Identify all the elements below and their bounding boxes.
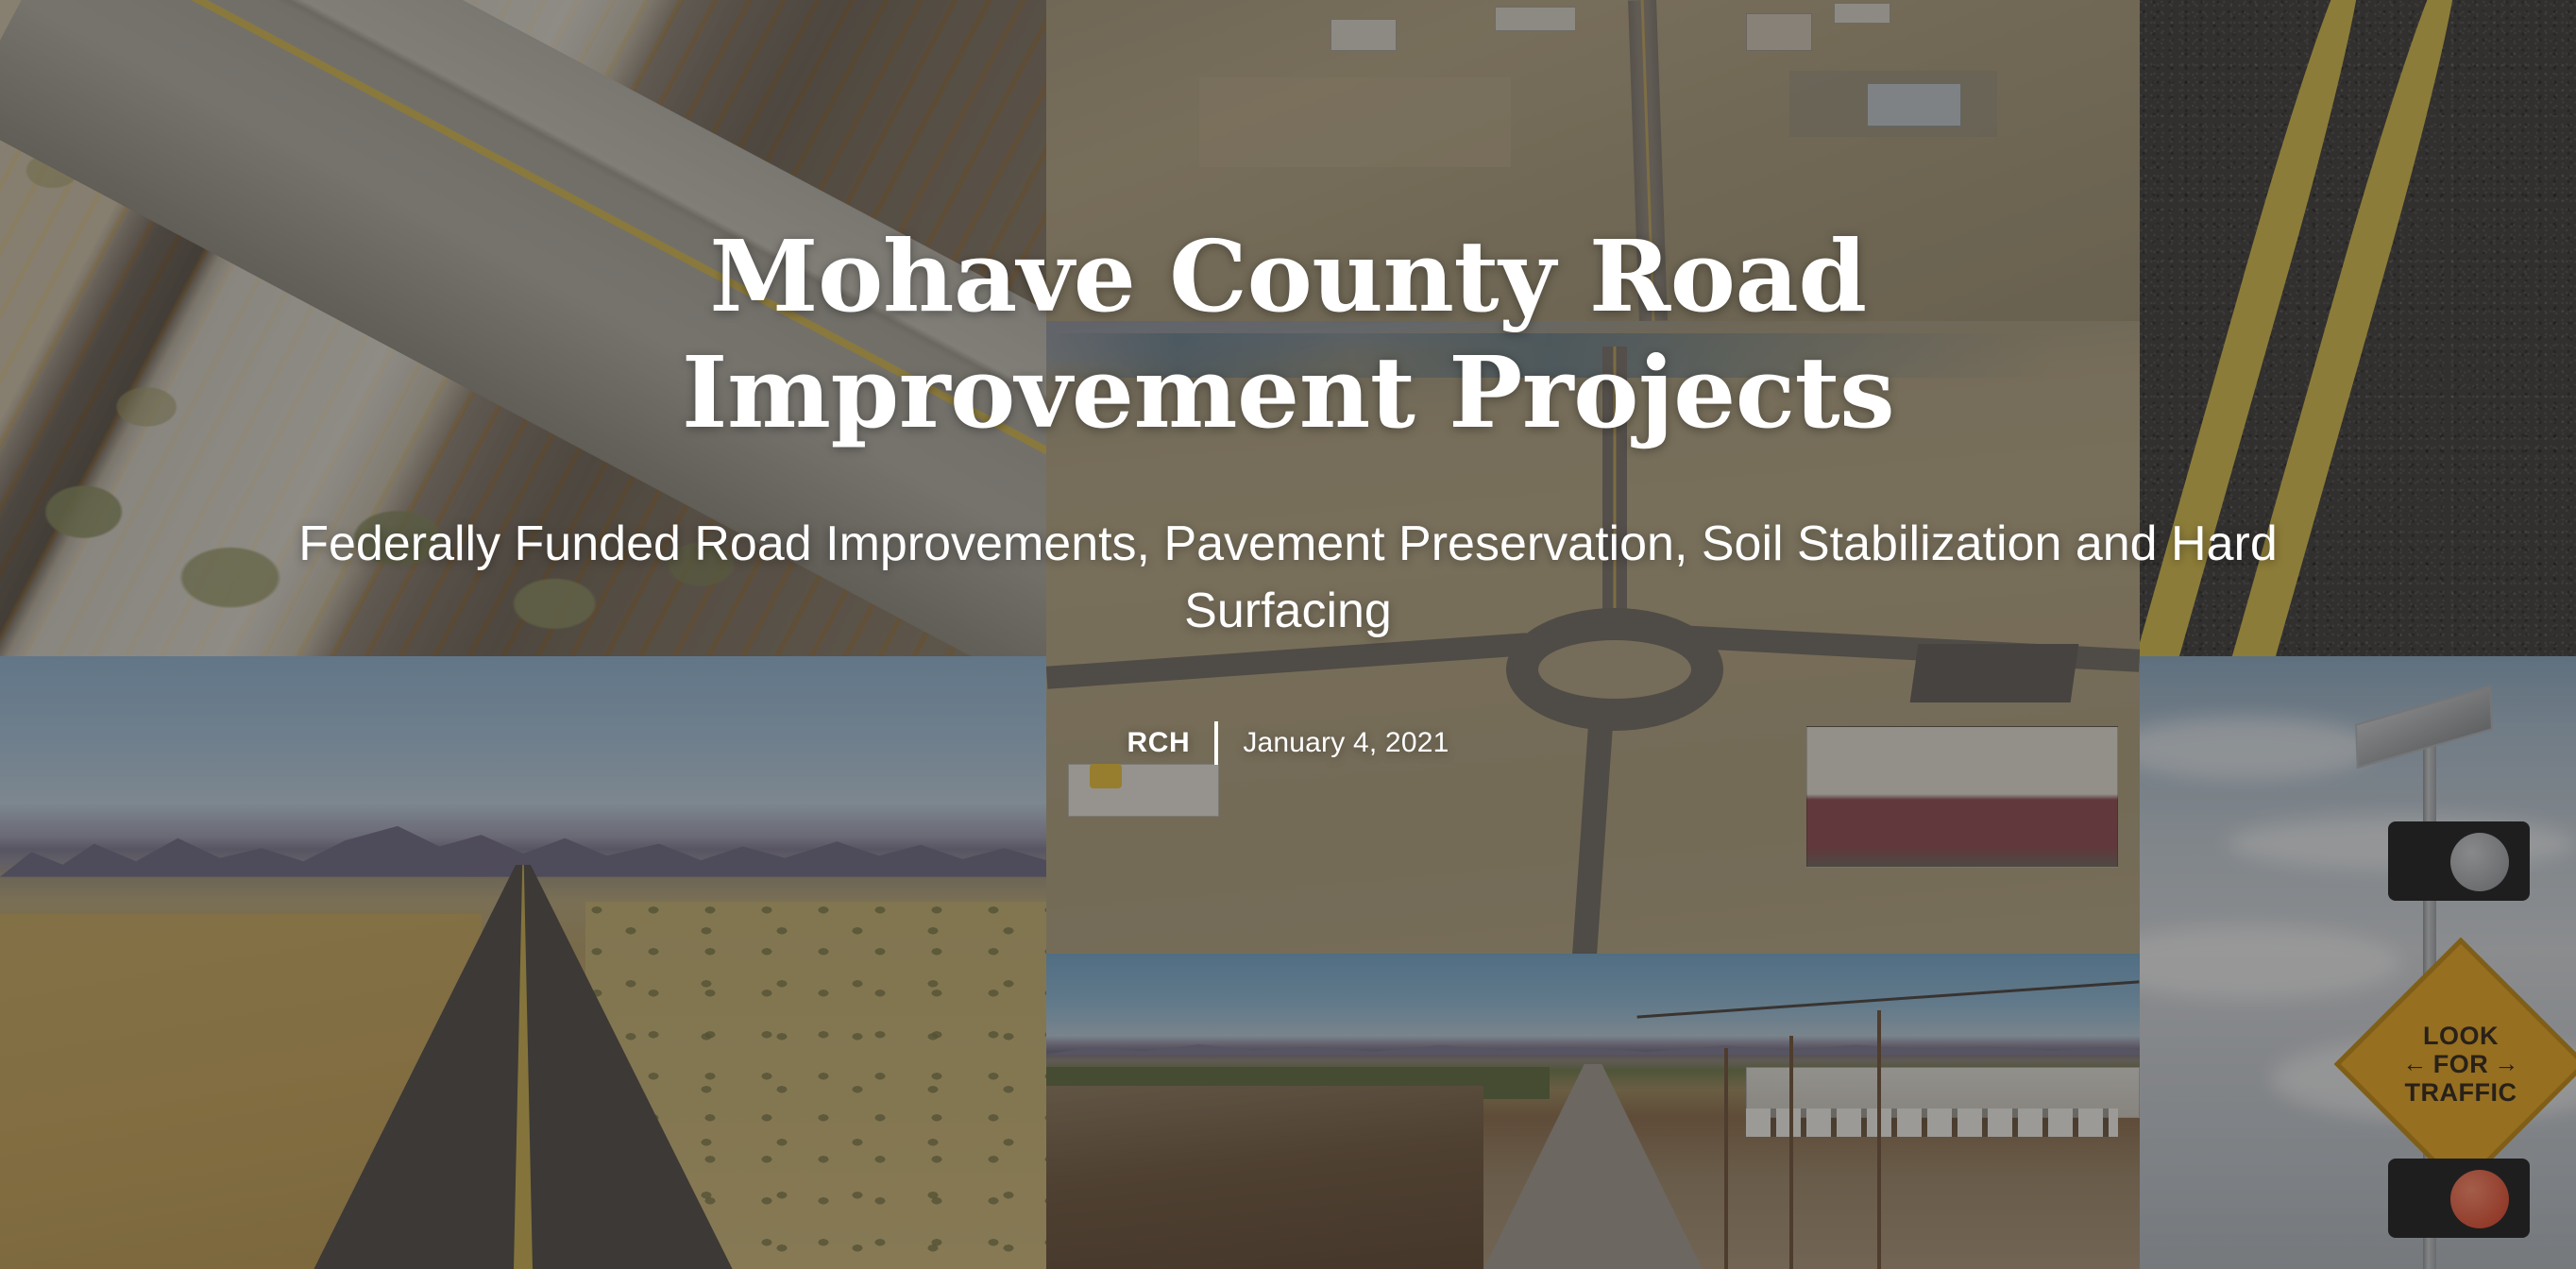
byline-date: January 4, 2021: [1243, 727, 1449, 759]
title-slide: LOOK ← FOR → TRAFFIC Mohave County Ro: [0, 0, 2576, 1269]
title-text-block: Mohave County Road Improvement Projects …: [0, 0, 2576, 1269]
byline: RCH January 4, 2021: [1127, 721, 1449, 765]
page-title: Mohave County Road Improvement Projects: [363, 219, 2213, 450]
byline-divider: [1214, 721, 1218, 765]
page-subtitle: Federally Funded Road Improvements, Pave…: [259, 511, 2317, 643]
byline-author: RCH: [1127, 727, 1191, 759]
